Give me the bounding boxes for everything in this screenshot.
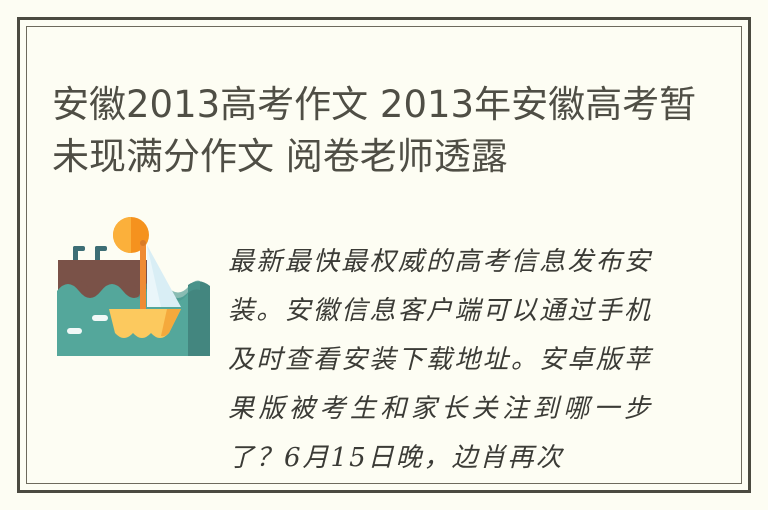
article-page: 安徽2013高考作文 2013年安徽高考暂未现满分作文 阅卷老师透露 (0, 0, 768, 510)
article-illustration (57, 203, 210, 356)
page-content: 安徽2013高考作文 2013年安徽高考暂未现满分作文 阅卷老师透露 (26, 26, 742, 484)
page-title: 安徽2013高考作文 2013年安徽高考暂未现满分作文 阅卷老师透露 (52, 79, 712, 183)
article-body-text: 最新最快最权威的高考信息发布安装。安徽信息客户端可以通过手机及时查看安装下载地址… (228, 238, 652, 483)
mast-icon (140, 240, 146, 320)
sailboat-seaside-icon (57, 203, 210, 356)
